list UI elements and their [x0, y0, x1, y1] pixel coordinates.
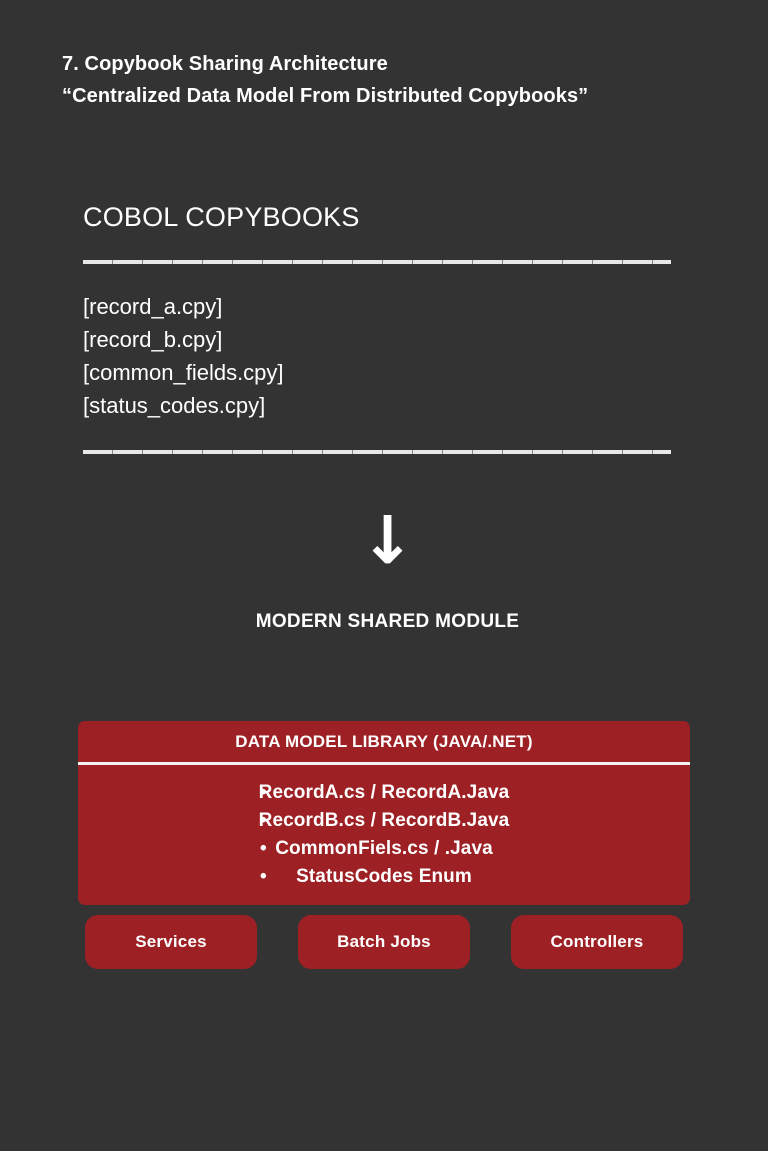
bullet-icon: •: [260, 807, 267, 835]
data-model-library-card: DATA MODEL LIBRARY (JAVA/.NET) • RecordA…: [78, 721, 690, 905]
list-item: [record_a.cpy]: [83, 290, 671, 323]
page-title: 7. Copybook Sharing Architecture: [62, 48, 722, 80]
consumer-button-services[interactable]: Services: [85, 915, 257, 969]
divider-bottom: [83, 450, 671, 454]
copybook-file-list: [record_a.cpy] [record_b.cpy] [common_fi…: [83, 290, 671, 422]
divider-top: [83, 260, 671, 264]
list-item-label: CommonFiels.cs / .Java: [275, 838, 493, 859]
data-model-library-header: DATA MODEL LIBRARY (JAVA/.NET): [78, 721, 690, 762]
bullet-icon: •: [260, 835, 267, 863]
list-item: [status_codes.cpy]: [83, 389, 671, 422]
consumer-button-batch-jobs[interactable]: Batch Jobs: [298, 915, 470, 969]
list-item: • StatusCodes Enum: [78, 863, 690, 891]
list-item: • CommonFiels.cs / .Java: [78, 835, 690, 863]
list-item: • RecordB.cs / RecordB.Java: [78, 807, 690, 835]
slide-title-block: 7. Copybook Sharing Architecture “Centra…: [62, 48, 722, 112]
list-item-label: StatusCodes Enum: [296, 866, 472, 887]
consumer-button-controllers[interactable]: Controllers: [511, 915, 683, 969]
bullet-icon: •: [260, 779, 267, 807]
consumer-button-row: Services Batch Jobs Controllers: [85, 915, 683, 969]
cobol-copybooks-section: COBOL COPYBOOKS [record_a.cpy] [record_b…: [83, 200, 671, 454]
list-item: • RecordA.cs / RecordA.Java: [78, 779, 690, 807]
cobol-copybooks-heading: COBOL COPYBOOKS: [83, 200, 671, 234]
list-item: [common_fields.cpy]: [83, 356, 671, 389]
modern-shared-module-label: MODERN SHARED MODULE: [0, 611, 768, 633]
down-arrow-icon: ↓: [7, 505, 768, 577]
list-item-label: RecordA.cs / RecordA.Java: [259, 782, 510, 803]
bullet-icon: •: [260, 863, 267, 891]
page-subtitle: “Centralized Data Model From Distributed…: [62, 80, 722, 112]
data-model-library-items: • RecordA.cs / RecordA.Java • RecordB.cs…: [78, 765, 690, 891]
transition-arrow-wrap: ↓: [0, 505, 768, 577]
list-item-label: RecordB.cs / RecordB.Java: [259, 810, 510, 831]
list-item: [record_b.cpy]: [83, 323, 671, 356]
